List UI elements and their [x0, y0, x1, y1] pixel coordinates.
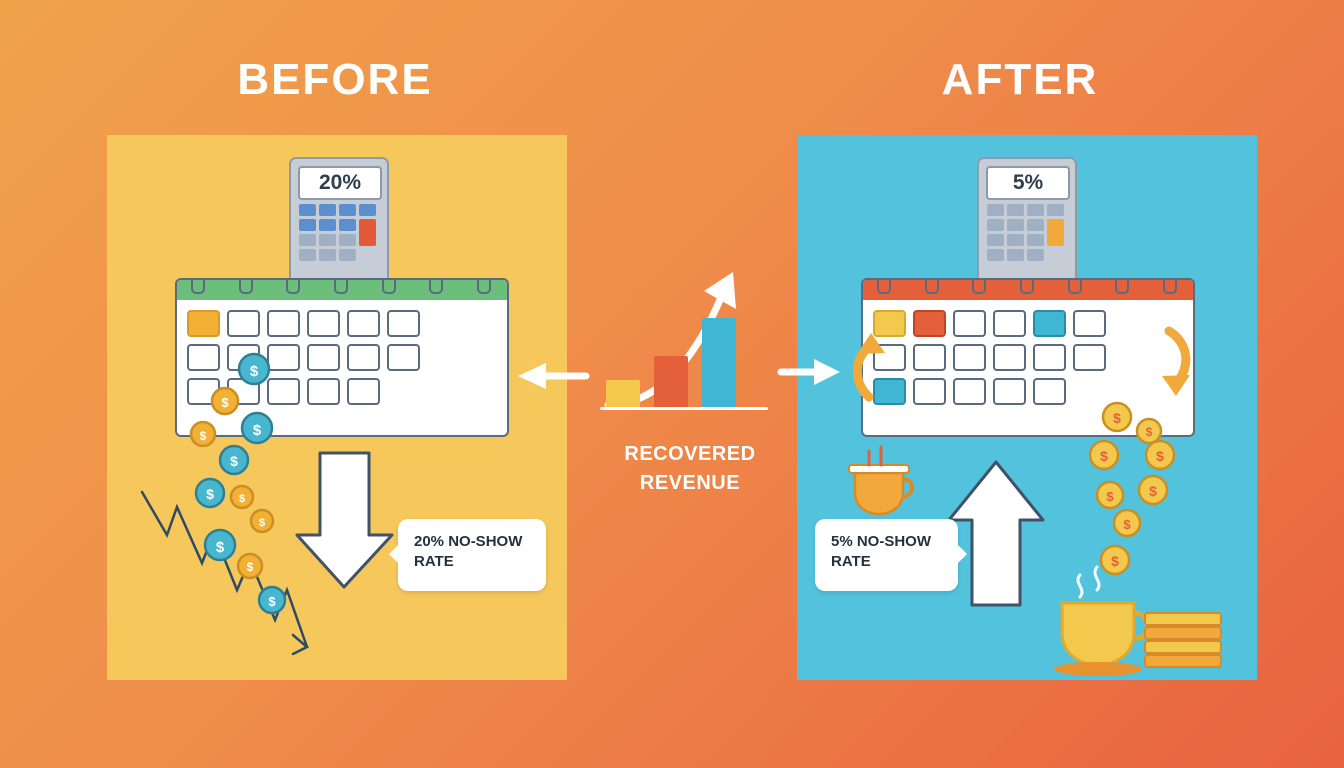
- calendar-row: [187, 310, 497, 337]
- calculator-key: [359, 204, 376, 216]
- bubble-after-no-show-rate: 5% NO-SHOW RATE: [815, 519, 958, 591]
- calendar-cell: [913, 344, 946, 371]
- svg-text:$: $: [1076, 637, 1084, 652]
- heading-before: BEFORE: [135, 55, 535, 105]
- calendar-cell: [1033, 378, 1066, 405]
- calculator-key: [339, 204, 356, 216]
- panel-before: 20%: [107, 135, 567, 680]
- calendar-cell: [347, 378, 380, 405]
- calendar-ring-icon: [191, 278, 205, 294]
- calendar-rings-before: [191, 278, 491, 294]
- calendar-ring-icon: [477, 278, 491, 294]
- calendar-cell: [1033, 344, 1066, 371]
- svg-text:$: $: [259, 517, 265, 529]
- recovered-revenue-chart: [600, 265, 775, 430]
- calendar-ring-icon: [1115, 278, 1129, 294]
- calendar-row: [873, 378, 1183, 405]
- calendar-ring-icon: [925, 278, 939, 294]
- calculator-key: [299, 234, 316, 246]
- rising-coins-icon: $ $ $ $ $: [1067, 403, 1174, 656]
- panel-after: 5%: [797, 135, 1257, 680]
- calendar-row: [187, 344, 497, 371]
- calendar-rings-after: [877, 278, 1177, 294]
- calculator-key: [319, 219, 336, 231]
- calendar-cell: [993, 344, 1026, 371]
- calendar-cell: [953, 378, 986, 405]
- calendar-cell: [913, 378, 946, 405]
- calendar-ring-icon: [286, 278, 300, 294]
- svg-text:$: $: [1106, 489, 1114, 504]
- calendar-cell: [307, 310, 340, 337]
- calendar-grid-after: [863, 302, 1193, 435]
- calculator-key: [1027, 219, 1044, 231]
- calculator-before: 20%: [289, 157, 389, 286]
- calculator-key: [1027, 204, 1044, 216]
- svg-text:$: $: [1156, 448, 1164, 464]
- calendar-cell: [347, 310, 380, 337]
- calendar-cell: [347, 344, 380, 371]
- calculator-after: 5%: [977, 157, 1077, 286]
- calendar-cell: [267, 378, 300, 405]
- chart-bar: [606, 380, 640, 408]
- calculator-key: [299, 219, 316, 231]
- calculator-display-before: 20%: [298, 166, 382, 200]
- bubble-before-no-show-rate: 20% NO-SHOW RATE: [398, 519, 546, 591]
- calculator-key: [987, 219, 1004, 231]
- calendar-cell-highlighted: [873, 310, 906, 337]
- calendar-cell-highlighted: [913, 310, 946, 337]
- calendar-cell: [953, 310, 986, 337]
- calculator-display-after: 5%: [986, 166, 1070, 200]
- calculator-key: [1027, 249, 1044, 261]
- calendar-cell: [227, 378, 260, 405]
- calculator-key: [1007, 249, 1024, 261]
- small-coffee-cup-icon: [849, 447, 912, 514]
- calculator-key: [1047, 204, 1064, 216]
- calculator-key: [987, 249, 1004, 261]
- steam-icon: [1078, 567, 1099, 597]
- calendar-cell: [187, 344, 220, 371]
- chart-caption: RECOVERED REVENUE: [595, 440, 785, 498]
- calendar-cell: [953, 344, 986, 371]
- calendar-cell: [267, 344, 300, 371]
- stacked-books-icon: [1145, 613, 1221, 667]
- calendar-cell: [227, 310, 260, 337]
- calculator-key: [1007, 204, 1024, 216]
- calendar-grid-before: [177, 302, 507, 435]
- calculator-key: [987, 234, 1004, 246]
- calendar-ring-icon: [1163, 278, 1177, 294]
- calculator-key: [299, 204, 316, 216]
- calendar-after: [861, 278, 1195, 437]
- calendar-cell-highlighted: [873, 378, 906, 405]
- chart-axis: [600, 407, 768, 410]
- calendar-ring-icon: [1020, 278, 1034, 294]
- chart-caption-line2: REVENUE: [595, 469, 785, 498]
- calendar-row: [873, 344, 1183, 371]
- calculator-key: [339, 234, 356, 246]
- heading-after: AFTER: [820, 55, 1220, 105]
- svg-text:$: $: [230, 453, 238, 469]
- chart-bars: [606, 318, 736, 408]
- calendar-ring-icon: [239, 278, 253, 294]
- svg-text:$: $: [268, 594, 276, 609]
- calendar-cell: [993, 378, 1026, 405]
- svg-text:$: $: [216, 539, 225, 556]
- calendar-ring-icon: [334, 278, 348, 294]
- calculator-key: [339, 219, 356, 231]
- calendar-cell: [1073, 310, 1106, 337]
- coffee-cup-icon: [1054, 603, 1148, 676]
- svg-text:$: $: [1100, 448, 1108, 464]
- calculator-key: [299, 249, 316, 261]
- calculator-key: [319, 204, 336, 216]
- svg-text:$: $: [239, 493, 245, 505]
- chart-bar: [702, 318, 736, 408]
- calendar-row: [873, 310, 1183, 337]
- calendar-cell: [227, 344, 260, 371]
- calendar-ring-icon: [1068, 278, 1082, 294]
- calendar-cell: [267, 310, 300, 337]
- up-arrow-icon: [949, 462, 1043, 605]
- svg-text:$: $: [1149, 483, 1157, 499]
- declining-trend-line-icon: [142, 492, 307, 654]
- down-arrow-icon: [297, 453, 392, 587]
- calendar-cell: [993, 310, 1026, 337]
- calendar-cell-highlighted: [1033, 310, 1066, 337]
- calculator-key: [1027, 234, 1044, 246]
- calendar-ring-icon: [382, 278, 396, 294]
- calendar-cell-highlighted: [187, 310, 220, 337]
- calculator-key: [1007, 219, 1024, 231]
- calculator-key: [1007, 234, 1024, 246]
- calendar-cell: [187, 378, 220, 405]
- calendar-cell: [387, 344, 420, 371]
- calendar-before: [175, 278, 509, 437]
- calculator-key-accent: [359, 219, 376, 246]
- svg-text:$: $: [1111, 553, 1119, 569]
- svg-text:$: $: [247, 560, 254, 574]
- calendar-ring-icon: [972, 278, 986, 294]
- calculator-key: [339, 249, 356, 261]
- calculator-key: [319, 249, 336, 261]
- calendar-cell: [1073, 344, 1106, 371]
- calculator-keys-before: [299, 204, 379, 261]
- calendar-cell: [387, 310, 420, 337]
- chart-bar: [654, 356, 688, 408]
- calculator-keys-after: [987, 204, 1067, 261]
- calculator-key: [319, 234, 336, 246]
- svg-text:$: $: [1123, 517, 1131, 532]
- chart-caption-line1: RECOVERED: [595, 440, 785, 469]
- infographic-canvas: BEFORE AFTER 20%: [0, 0, 1344, 768]
- calendar-cell: [307, 378, 340, 405]
- calendar-cell: [307, 344, 340, 371]
- calendar-ring-icon: [429, 278, 443, 294]
- svg-text:$: $: [206, 486, 214, 502]
- calendar-row: [187, 378, 497, 405]
- calendar-ring-icon: [877, 278, 891, 294]
- calendar-cell: [873, 344, 906, 371]
- calculator-key-accent: [1047, 219, 1064, 246]
- calculator-key: [987, 204, 1004, 216]
